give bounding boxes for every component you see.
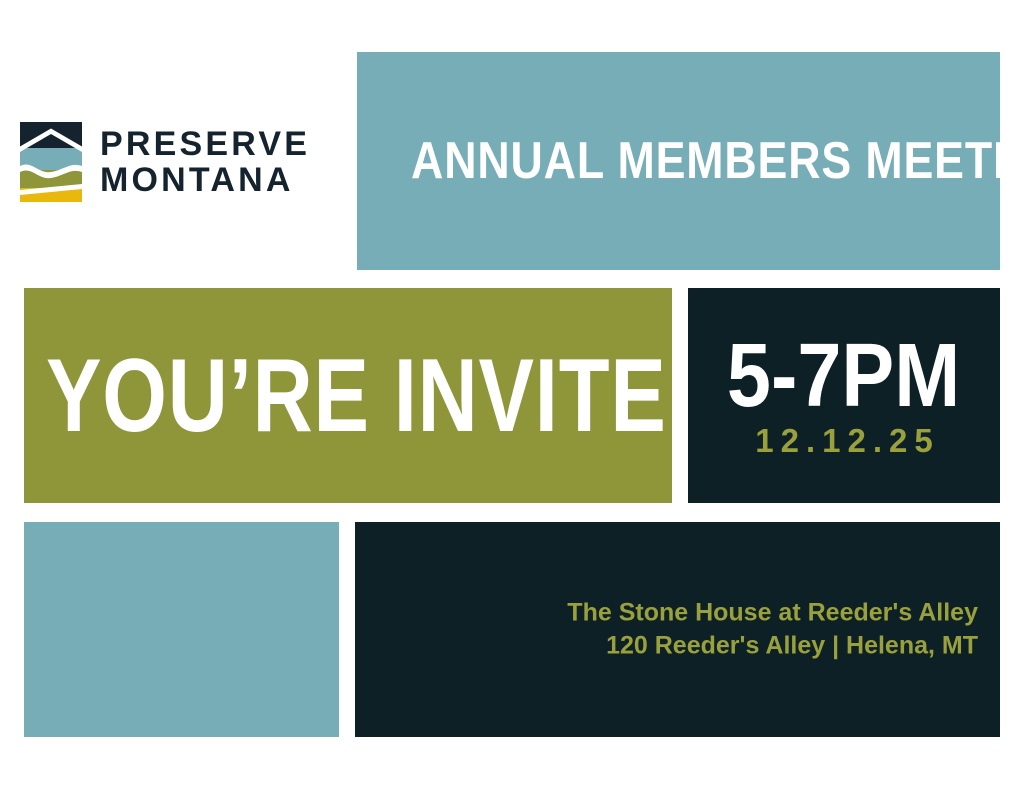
invite-banner: YOU’RE INVITED! bbox=[24, 288, 672, 503]
mountain-landscape-icon bbox=[20, 122, 82, 202]
invite-headline-text: YOU’RE INVITED! bbox=[46, 344, 756, 448]
venue-address: 120 Reeder's Alley | Helena, MT bbox=[567, 630, 978, 664]
time-block: 5-7PM 12.12.25 bbox=[688, 288, 1000, 503]
venue-block: The Stone House at Reeder's Alley 120 Re… bbox=[355, 522, 1000, 737]
time-block-content: 5-7PM 12.12.25 bbox=[688, 331, 1000, 459]
venue-name: The Stone House at Reeder's Alley bbox=[567, 596, 978, 630]
event-invitation-flyer: PRESERVE MONTANA ANNUAL MEMBERS MEETING … bbox=[0, 0, 1024, 791]
meeting-title-text: ANNUAL MEMBERS MEETING bbox=[411, 131, 1024, 191]
header-banner: ANNUAL MEMBERS MEETING bbox=[357, 52, 1000, 270]
logo-wordmark: PRESERVE MONTANA bbox=[100, 126, 310, 198]
event-time-text: 5-7PM bbox=[727, 331, 960, 419]
logo-wordmark-line-2: MONTANA bbox=[100, 162, 310, 198]
event-date: 12.12.25 bbox=[688, 422, 1000, 460]
venue-details: The Stone House at Reeder's Alley 120 Re… bbox=[567, 596, 978, 663]
meeting-title: ANNUAL MEMBERS MEETING bbox=[357, 131, 1000, 191]
accent-block bbox=[24, 522, 339, 737]
preserve-montana-logo: PRESERVE MONTANA bbox=[20, 118, 350, 206]
logo-wordmark-line-1: PRESERVE bbox=[100, 126, 310, 162]
event-time: 5-7PM bbox=[688, 331, 1000, 419]
